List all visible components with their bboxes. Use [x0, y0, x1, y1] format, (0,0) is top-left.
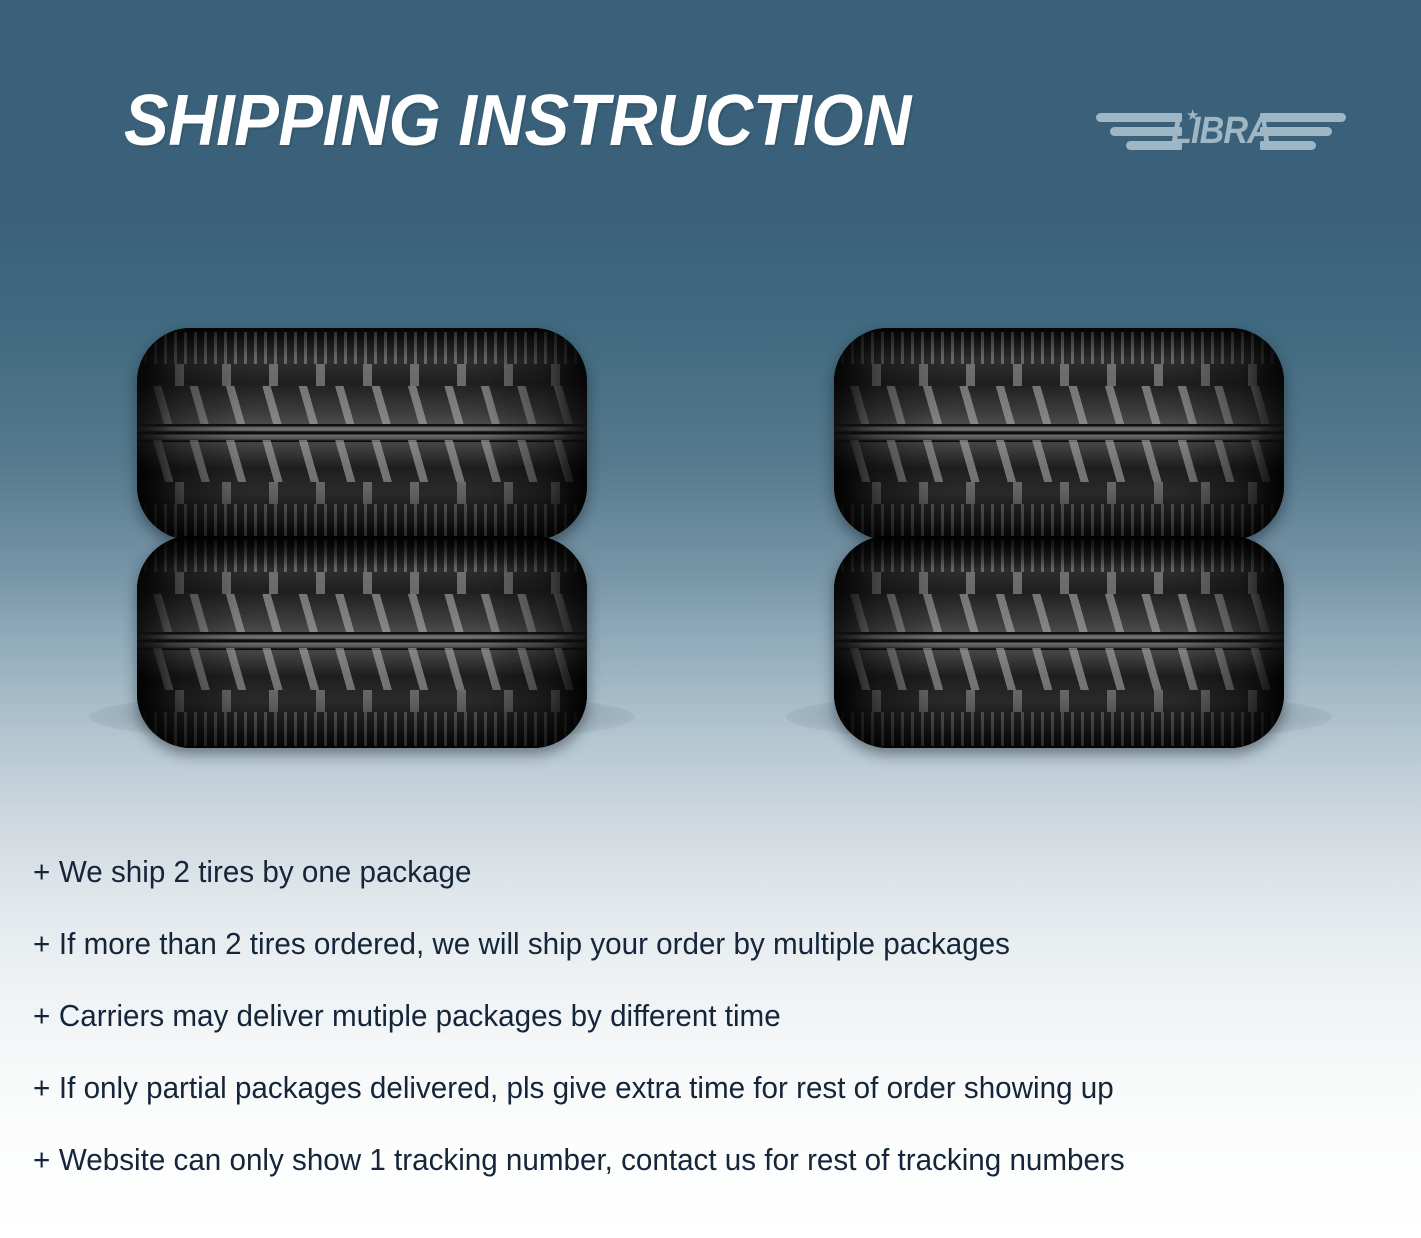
shipping-instruction-banner: SHIPPING INSTRUCTION LIBRA: [0, 0, 1421, 1238]
tire-image: [137, 328, 587, 540]
instruction-item: +We ship 2 tires by one package: [33, 856, 1313, 887]
instruction-text: Website can only show 1 tracking number,…: [59, 1142, 1125, 1177]
instruction-item: +If only partial packages delivered, pls…: [33, 1072, 1313, 1103]
instruction-item: +Website can only show 1 tracking number…: [33, 1144, 1313, 1175]
instruction-item: +Carriers may deliver mutiple packages b…: [33, 1000, 1313, 1031]
tire-stack-left: [137, 328, 587, 758]
instruction-text: If only partial packages delivered, pls …: [59, 1070, 1114, 1105]
instruction-item: +If more than 2 tires ordered, we will s…: [33, 928, 1313, 959]
tire-illustration: [0, 0, 1421, 820]
tire-side-shading: [137, 328, 587, 540]
plus-bullet-icon: +: [33, 926, 50, 961]
plus-bullet-icon: +: [33, 1142, 50, 1177]
tire-stack-right: [834, 328, 1284, 758]
tire-side-shading: [834, 536, 1284, 748]
tire-side-shading: [834, 328, 1284, 540]
plus-bullet-icon: +: [33, 1070, 50, 1105]
tire-image: [137, 536, 587, 748]
plus-bullet-icon: +: [33, 998, 50, 1033]
instruction-text: Carriers may deliver mutiple packages by…: [59, 998, 781, 1033]
instruction-text: If more than 2 tires ordered, we will sh…: [59, 926, 1010, 961]
tire-image: [834, 328, 1284, 540]
tire-image: [834, 536, 1284, 748]
instruction-text: We ship 2 tires by one package: [59, 854, 472, 889]
tire-side-shading: [137, 536, 587, 748]
instruction-list: +We ship 2 tires by one package +If more…: [33, 856, 1373, 1175]
plus-bullet-icon: +: [33, 854, 50, 889]
